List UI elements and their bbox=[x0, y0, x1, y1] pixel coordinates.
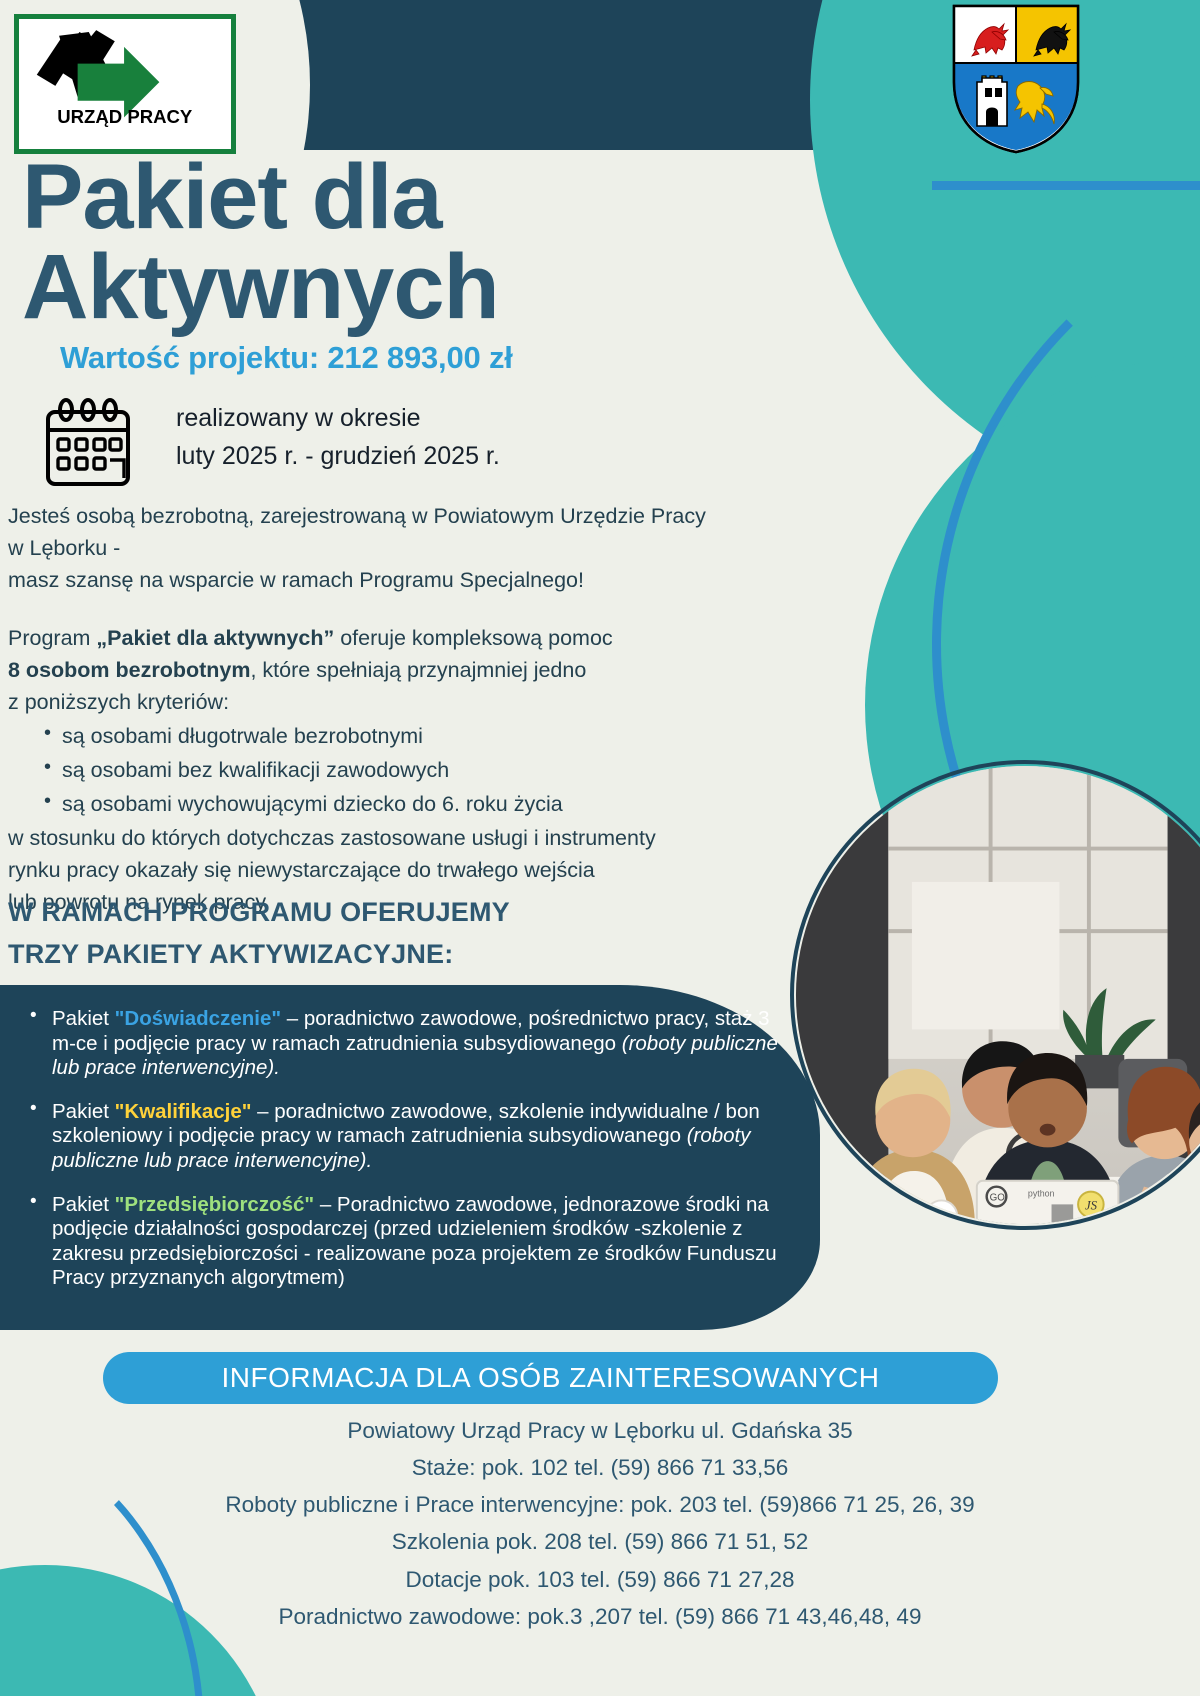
project-value: Wartość projektu: 212 893,00 zł bbox=[60, 340, 513, 376]
package-name: "Doświadczenie" bbox=[115, 1007, 281, 1030]
contact-line-address: Powiatowy Urząd Pracy w Lęborku ul. Gdań… bbox=[0, 1412, 1200, 1449]
intro-p2-prefix: Program bbox=[8, 626, 96, 650]
contact-line-roboty: Roboty publiczne i Prace interwencyjne: … bbox=[0, 1486, 1200, 1523]
intro-copy: Jesteś osobą bezrobotną, zarejestrowaną … bbox=[8, 500, 708, 918]
list-item: są osobami długotrwale bezrobotnymi bbox=[44, 720, 708, 752]
list-item: są osobami bez kwalifikacji zawodowych bbox=[44, 754, 708, 786]
package-item-kwalifikacje: Pakiet "Kwalifikacje" – poradnictwo zawo… bbox=[30, 1100, 790, 1174]
package-prefix: Pakiet bbox=[52, 1100, 115, 1123]
svg-text:JS: JS bbox=[1085, 1198, 1098, 1212]
intro-paragraph-3: 8 osobom bezrobotnym, które spełniają pr… bbox=[8, 654, 708, 686]
page-title-line2: Aktywnych bbox=[22, 242, 742, 332]
package-prefix: Pakiet bbox=[52, 1007, 115, 1030]
project-period-line1: realizowany w okresie bbox=[176, 400, 500, 438]
intro-paragraph-5-line2: rynku pracy okazały się niewystarczające… bbox=[8, 854, 708, 886]
beneficiary-count-bold: 8 osobom bezrobotnym bbox=[8, 658, 250, 682]
contact-line-staze: Staże: pok. 102 tel. (59) 866 71 33,56 bbox=[0, 1449, 1200, 1486]
intro-paragraph-2: Program „Pakiet dla aktywnych” oferuje k… bbox=[8, 622, 708, 654]
logo-text: URZĄD PRACY bbox=[57, 106, 193, 127]
blue-arc-horizontal-stroke bbox=[932, 181, 1200, 190]
package-prefix: Pakiet bbox=[52, 1193, 115, 1216]
program-offer-heading: W RAMACH PROGRAMU OFERUJEMY TRZY PAKIETY… bbox=[8, 892, 688, 976]
page-title: Pakiet dla Aktywnych bbox=[22, 152, 742, 332]
page-title-line1: Pakiet dla bbox=[22, 146, 442, 248]
svg-text:GO: GO bbox=[990, 1192, 1006, 1203]
cta-banner-label: INFORMACJA DLA OSÓB ZAINTERESOWANYCH bbox=[222, 1362, 880, 1394]
package-item-przedsiebiorczosc: Pakiet "Przedsiębiorczość" – Poradnictwo… bbox=[30, 1193, 790, 1291]
contact-block: Powiatowy Urząd Pracy w Lęborku ul. Gdań… bbox=[0, 1412, 1200, 1635]
paragraph-spacer bbox=[8, 596, 708, 622]
list-item: są osobami wychowującymi dziecko do 6. r… bbox=[44, 788, 708, 820]
package-name: "Kwalifikacje" bbox=[115, 1100, 252, 1123]
criteria-list: są osobami długotrwale bezrobotnymi są o… bbox=[8, 720, 708, 820]
intro-p2-suffix: oferuje kompleksową pomoc bbox=[334, 626, 612, 650]
contact-line-szkolenia: Szkolenia pok. 208 tel. (59) 866 71 51, … bbox=[0, 1523, 1200, 1560]
svg-text:python: python bbox=[1028, 1189, 1055, 1199]
project-period: realizowany w okresie luty 2025 r. - gru… bbox=[176, 400, 500, 475]
packages-list: Pakiet "Doświadczenie" – poradnictwo zaw… bbox=[30, 1007, 790, 1310]
contact-line-poradnictwo: Poradnictwo zawodowe: pok.3 ,207 tel. (5… bbox=[0, 1598, 1200, 1635]
calendar-icon bbox=[40, 398, 136, 490]
team-photo-illustration: GO python JS bbox=[794, 764, 1200, 1226]
urzad-pracy-logo: URZĄD PRACY bbox=[14, 14, 236, 154]
program-name-bold: „Pakiet dla aktywnych” bbox=[96, 626, 334, 650]
urzad-pracy-arrow-logo-icon: URZĄD PRACY bbox=[19, 19, 231, 149]
cta-banner: INFORMACJA DLA OSÓB ZAINTERESOWANYCH bbox=[103, 1352, 998, 1404]
intro-paragraph-1-line1: Jesteś osobą bezrobotną, zarejestrowaną … bbox=[8, 500, 708, 564]
powiat-leborski-coat-of-arms-icon bbox=[952, 4, 1080, 154]
package-name: "Przedsiębiorczość" bbox=[115, 1193, 314, 1216]
intro-p3-suffix: , które spełniają przynajmniej jedno bbox=[250, 658, 586, 682]
program-offer-heading-line2: TRZY PAKIETY AKTYWIZACYJNE: bbox=[8, 934, 688, 976]
package-item-doswiadczenie: Pakiet "Doświadczenie" – poradnictwo zaw… bbox=[30, 1007, 790, 1081]
intro-paragraph-5-line1: w stosunku do których dotychczas zastoso… bbox=[8, 822, 708, 854]
program-offer-heading-line1: W RAMACH PROGRAMU OFERUJEMY bbox=[8, 892, 688, 934]
packages-panel: Pakiet "Doświadczenie" – poradnictwo zaw… bbox=[0, 985, 820, 1330]
poster-root: URZĄD PRACY bbox=[0, 0, 1200, 1696]
criteria-lead-in: z poniższych kryteriów: bbox=[8, 686, 708, 718]
intro-paragraph-1-line2: masz szansę na wsparcie w ramach Program… bbox=[8, 564, 708, 596]
project-period-line2: luty 2025 r. - grudzień 2025 r. bbox=[176, 438, 500, 476]
contact-line-dotacje: Dotacje pok. 103 tel. (59) 866 71 27,28 bbox=[0, 1561, 1200, 1598]
